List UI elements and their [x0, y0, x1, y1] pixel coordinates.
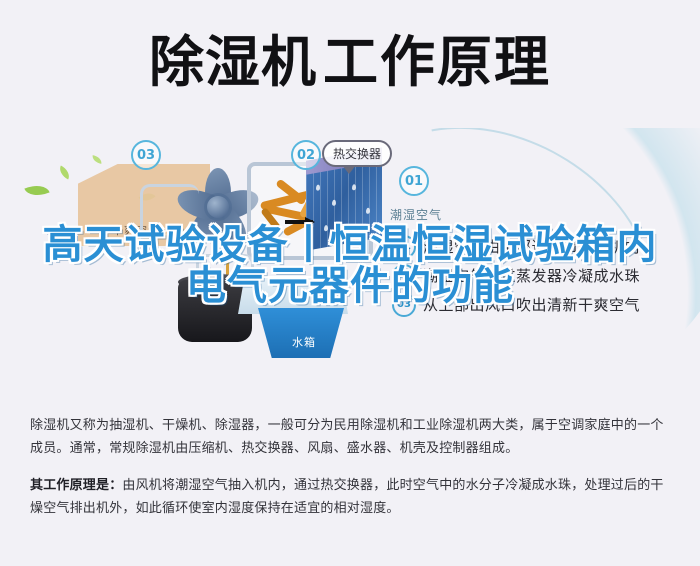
legend-text-03: 从上部出风口吹出清新干爽空气: [423, 294, 640, 315]
diagram-badge-02: 02: [291, 140, 321, 170]
air-duct-pipe: [140, 184, 199, 257]
condensation-droplets: [306, 161, 382, 250]
paragraph-1: 除湿机又称为抽湿机、干燥机、除湿器，一般可分为民用除湿机和工业除湿机两大类，属于…: [30, 414, 670, 460]
fan-hub: [207, 196, 229, 218]
water-droplet: [346, 229, 350, 236]
water-droplet: [352, 184, 356, 191]
page-root: 除湿机工作原理 干爽空气: [0, 0, 700, 566]
water-droplet: [324, 225, 328, 232]
paragraph-2-rest: 由风机将潮湿空气抽入机内，通过热交换器，此时空气中的水分子冷凝成水珠，处理过后的…: [30, 478, 664, 516]
leaf-icon: [57, 165, 73, 179]
paragraph-2: 其工作原理是：由风机将潮湿空气抽入机内，通过热交换器，此时空气中的水分子冷凝成水…: [30, 474, 670, 520]
legend-text-01: 潮湿空气由下部进风口吸入机内: [423, 236, 640, 257]
legend-item: 03 从上部出风口吹出清新干爽空气: [392, 290, 692, 319]
legend-badge-03: 03: [392, 293, 416, 317]
diagram-stage: 干爽空气: [0, 128, 700, 406]
leaf-icon: [24, 180, 49, 200]
page-title-part-b: 工作原理: [323, 30, 551, 94]
page-title-part-a: 除湿机: [149, 30, 317, 94]
legend-badge-01: 01: [392, 235, 416, 259]
legend-item: 02 潮湿空气经过蒸发器冷凝成水珠: [392, 261, 692, 290]
legend-item: 01 潮湿空气由下部进风口吸入机内: [392, 232, 692, 261]
legend-badge-02: 02: [392, 264, 416, 288]
water-droplet: [366, 207, 370, 214]
water-droplet: [332, 199, 336, 206]
article-body: 除湿机又称为抽湿机、干燥机、除湿器，一般可分为民用除湿机和工业除湿机两大类，属于…: [0, 414, 700, 534]
heat-exchanger-callout: 热交换器: [322, 140, 392, 167]
paragraph-2-lead: 其工作原理是：: [30, 478, 122, 493]
water-droplet: [316, 184, 320, 191]
water-tank: [258, 308, 344, 358]
legend-text-02: 潮湿空气经过蒸发器冷凝成水珠: [423, 265, 640, 286]
airflow-arrow-icon: [285, 220, 313, 224]
page-title: 除湿机工作原理: [0, 26, 700, 98]
legend-list: 01 潮湿空气由下部进风口吸入机内 02 潮湿空气经过蒸发器冷凝成水珠 03 从…: [392, 232, 692, 319]
water-tank-label: 水箱: [292, 334, 316, 350]
diagram-badge-03: 03: [131, 140, 161, 170]
humid-air-label: 潮湿空气: [390, 206, 442, 223]
diagram-badge-01: 01: [399, 166, 429, 196]
leaf-icon: [91, 155, 102, 164]
title-band: 除湿机工作原理: [0, 0, 700, 128]
